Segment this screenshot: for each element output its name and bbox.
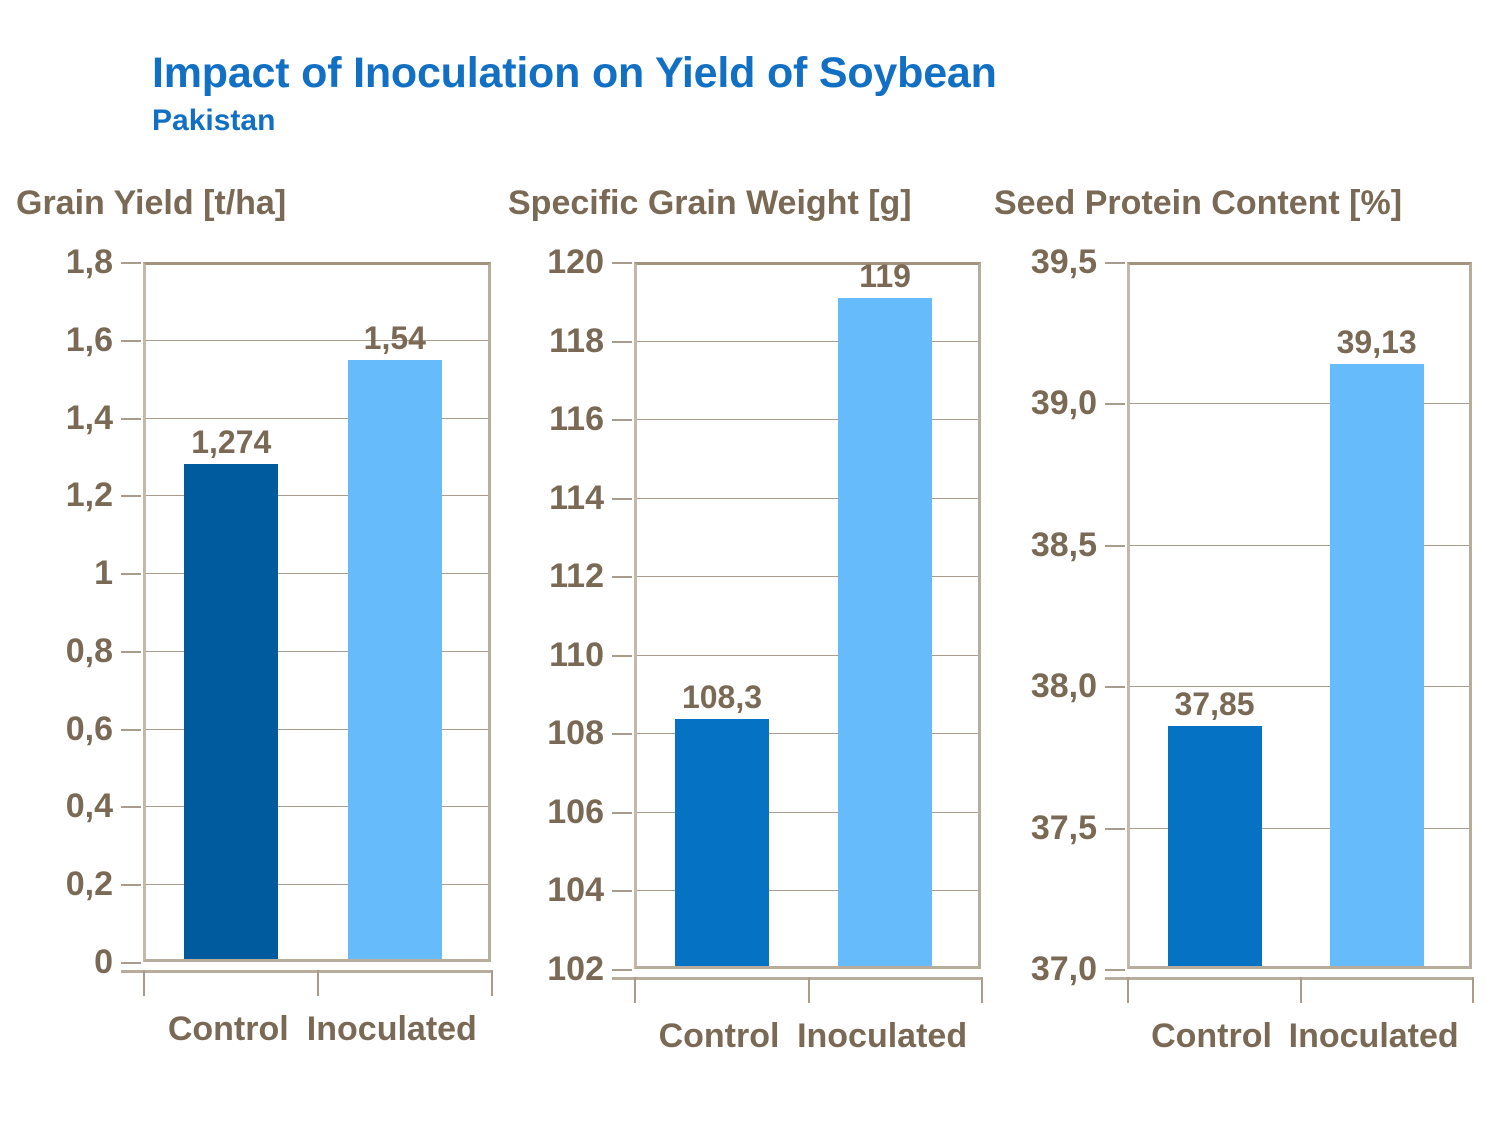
chart-panel-specific-grain-weight: Specific Grain Weight [g] 12011811611411… bbox=[500, 186, 990, 1066]
y-tick-mark bbox=[121, 962, 141, 964]
y-tick-mark bbox=[1105, 262, 1125, 264]
y-tick-mark bbox=[121, 262, 141, 264]
chart-area-specific-grain-weight: 120118116114112110108106104102108,3119Co… bbox=[510, 258, 982, 1054]
bar-value-label: 39,13 bbox=[1337, 326, 1417, 358]
bar-grain-yield-control[interactable] bbox=[184, 464, 278, 959]
plot-area-specific-grain-weight: 108,3119 bbox=[634, 262, 981, 969]
y-tick-label: 0 bbox=[94, 945, 113, 979]
x-category-label: Control bbox=[1151, 1019, 1272, 1053]
y-tick-mark bbox=[612, 262, 632, 264]
y-tick-mark bbox=[121, 340, 141, 342]
bar-value-label: 1,54 bbox=[364, 322, 426, 354]
y-tick-label: 37,5 bbox=[1031, 811, 1097, 845]
chart-area-grain-yield: 1,81,61,41,210,80,60,40,201,2741,54Contr… bbox=[8, 258, 492, 1043]
y-axis-seed-protein-content: 39,539,038,538,037,537,0 bbox=[990, 258, 1120, 1058]
y-tick-label: 38,0 bbox=[1031, 669, 1097, 703]
y-tick-mark bbox=[612, 890, 632, 892]
chart-title-grain-yield: Grain Yield [t/ha] bbox=[16, 186, 286, 220]
bar-seed-protein-content-inoculated[interactable] bbox=[1330, 364, 1424, 966]
x-tick-mark bbox=[143, 970, 145, 996]
bar-seed-protein-content-control[interactable] bbox=[1168, 726, 1262, 966]
y-tick-label: 1,8 bbox=[66, 245, 113, 279]
chart-panel-grain-yield: Grain Yield [t/ha] 1,81,61,41,210,80,60,… bbox=[0, 186, 500, 1066]
y-tick-label: 104 bbox=[547, 873, 604, 907]
y-tick-label: 0,8 bbox=[66, 634, 113, 668]
bar-value-label: 119 bbox=[859, 260, 911, 292]
chart-title-seed-protein-content: Seed Protein Content [%] bbox=[994, 186, 1402, 220]
x-tick-mark bbox=[1472, 977, 1474, 1003]
y-tick-mark bbox=[612, 341, 632, 343]
y-tick-mark bbox=[121, 884, 141, 886]
x-tick-mark bbox=[981, 977, 983, 1003]
y-tick-mark bbox=[612, 419, 632, 421]
y-tick-label: 1 bbox=[94, 556, 113, 590]
y-tick-label: 114 bbox=[549, 481, 604, 515]
bar-value-label: 1,274 bbox=[191, 426, 271, 458]
x-category-label: Control bbox=[168, 1012, 289, 1046]
x-tick-mark bbox=[1300, 977, 1302, 1003]
chart-panel-seed-protein-content: Seed Protein Content [%] 39,539,038,538,… bbox=[990, 186, 1500, 1066]
y-tick-label: 118 bbox=[549, 324, 604, 358]
x-category-label: Inoculated bbox=[797, 1019, 967, 1053]
x-tick-mark bbox=[1127, 977, 1129, 1003]
y-axis-grain-yield: 1,81,61,41,210,80,60,40,20 bbox=[8, 258, 136, 1043]
y-tick-label: 37,0 bbox=[1031, 952, 1097, 986]
title-block: Impact of Inoculation on Yield of Soybea… bbox=[152, 52, 1352, 136]
y-tick-mark bbox=[1105, 686, 1125, 688]
y-tick-label: 1,4 bbox=[66, 401, 113, 435]
y-tick-mark bbox=[121, 418, 141, 420]
x-axis-line-grain-yield bbox=[121, 970, 491, 973]
y-tick-mark bbox=[121, 729, 141, 731]
bar-value-label: 37,85 bbox=[1174, 688, 1254, 720]
y-tick-mark bbox=[612, 498, 632, 500]
y-tick-mark bbox=[121, 495, 141, 497]
x-tick-mark bbox=[634, 977, 636, 1003]
y-tick-mark bbox=[612, 655, 632, 657]
bar-specific-grain-weight-inoculated[interactable] bbox=[838, 298, 932, 966]
plot-area-grain-yield: 1,2741,54 bbox=[143, 262, 491, 962]
y-tick-label: 0,6 bbox=[66, 712, 113, 746]
y-tick-label: 1,2 bbox=[66, 478, 113, 512]
plot-area-seed-protein-content: 37,8539,13 bbox=[1127, 262, 1472, 969]
bar-grain-yield-inoculated[interactable] bbox=[348, 360, 442, 959]
y-tick-label: 120 bbox=[547, 245, 604, 279]
x-tick-mark bbox=[491, 970, 493, 996]
y-axis-specific-grain-weight: 120118116114112110108106104102 bbox=[510, 258, 628, 1054]
x-tick-mark bbox=[808, 977, 810, 1003]
y-tick-mark bbox=[612, 969, 632, 971]
x-tick-mark bbox=[317, 970, 319, 996]
chart-title-specific-grain-weight: Specific Grain Weight [g] bbox=[508, 186, 912, 220]
page-subtitle: Pakistan bbox=[152, 106, 1352, 136]
charts-container: Grain Yield [t/ha] 1,81,61,41,210,80,60,… bbox=[0, 186, 1500, 1066]
bar-specific-grain-weight-control[interactable] bbox=[675, 719, 769, 966]
y-tick-mark bbox=[1105, 403, 1125, 405]
y-tick-label: 38,5 bbox=[1031, 528, 1097, 562]
y-tick-mark bbox=[121, 651, 141, 653]
y-tick-label: 39,0 bbox=[1031, 386, 1097, 420]
y-tick-mark bbox=[1105, 828, 1125, 830]
y-tick-mark bbox=[121, 806, 141, 808]
y-tick-mark bbox=[121, 573, 141, 575]
y-tick-label: 116 bbox=[549, 402, 604, 436]
y-tick-label: 102 bbox=[547, 952, 604, 986]
y-tick-label: 112 bbox=[549, 559, 604, 593]
x-axis-line-specific-grain-weight bbox=[612, 977, 981, 980]
page-title: Impact of Inoculation on Yield of Soybea… bbox=[152, 52, 1352, 95]
x-category-label: Control bbox=[659, 1019, 780, 1053]
y-tick-label: 110 bbox=[549, 638, 604, 672]
y-tick-label: 108 bbox=[547, 716, 604, 750]
x-category-label: Inoculated bbox=[307, 1012, 477, 1046]
y-tick-mark bbox=[1105, 545, 1125, 547]
y-tick-label: 1,6 bbox=[66, 323, 113, 357]
y-tick-label: 106 bbox=[547, 795, 604, 829]
y-tick-label: 0,4 bbox=[66, 789, 113, 823]
y-tick-label: 0,2 bbox=[66, 867, 113, 901]
bar-value-label: 108,3 bbox=[682, 681, 762, 713]
chart-area-seed-protein-content: 39,539,038,538,037,537,037,8539,13Contro… bbox=[990, 258, 1490, 1058]
y-tick-mark bbox=[1105, 969, 1125, 971]
y-tick-label: 39,5 bbox=[1031, 245, 1097, 279]
x-category-label: Inoculated bbox=[1289, 1019, 1459, 1053]
x-axis-line-seed-protein-content bbox=[1105, 977, 1472, 980]
y-tick-mark bbox=[612, 576, 632, 578]
gridline bbox=[146, 340, 488, 341]
y-tick-mark bbox=[612, 812, 632, 814]
y-tick-mark bbox=[612, 733, 632, 735]
